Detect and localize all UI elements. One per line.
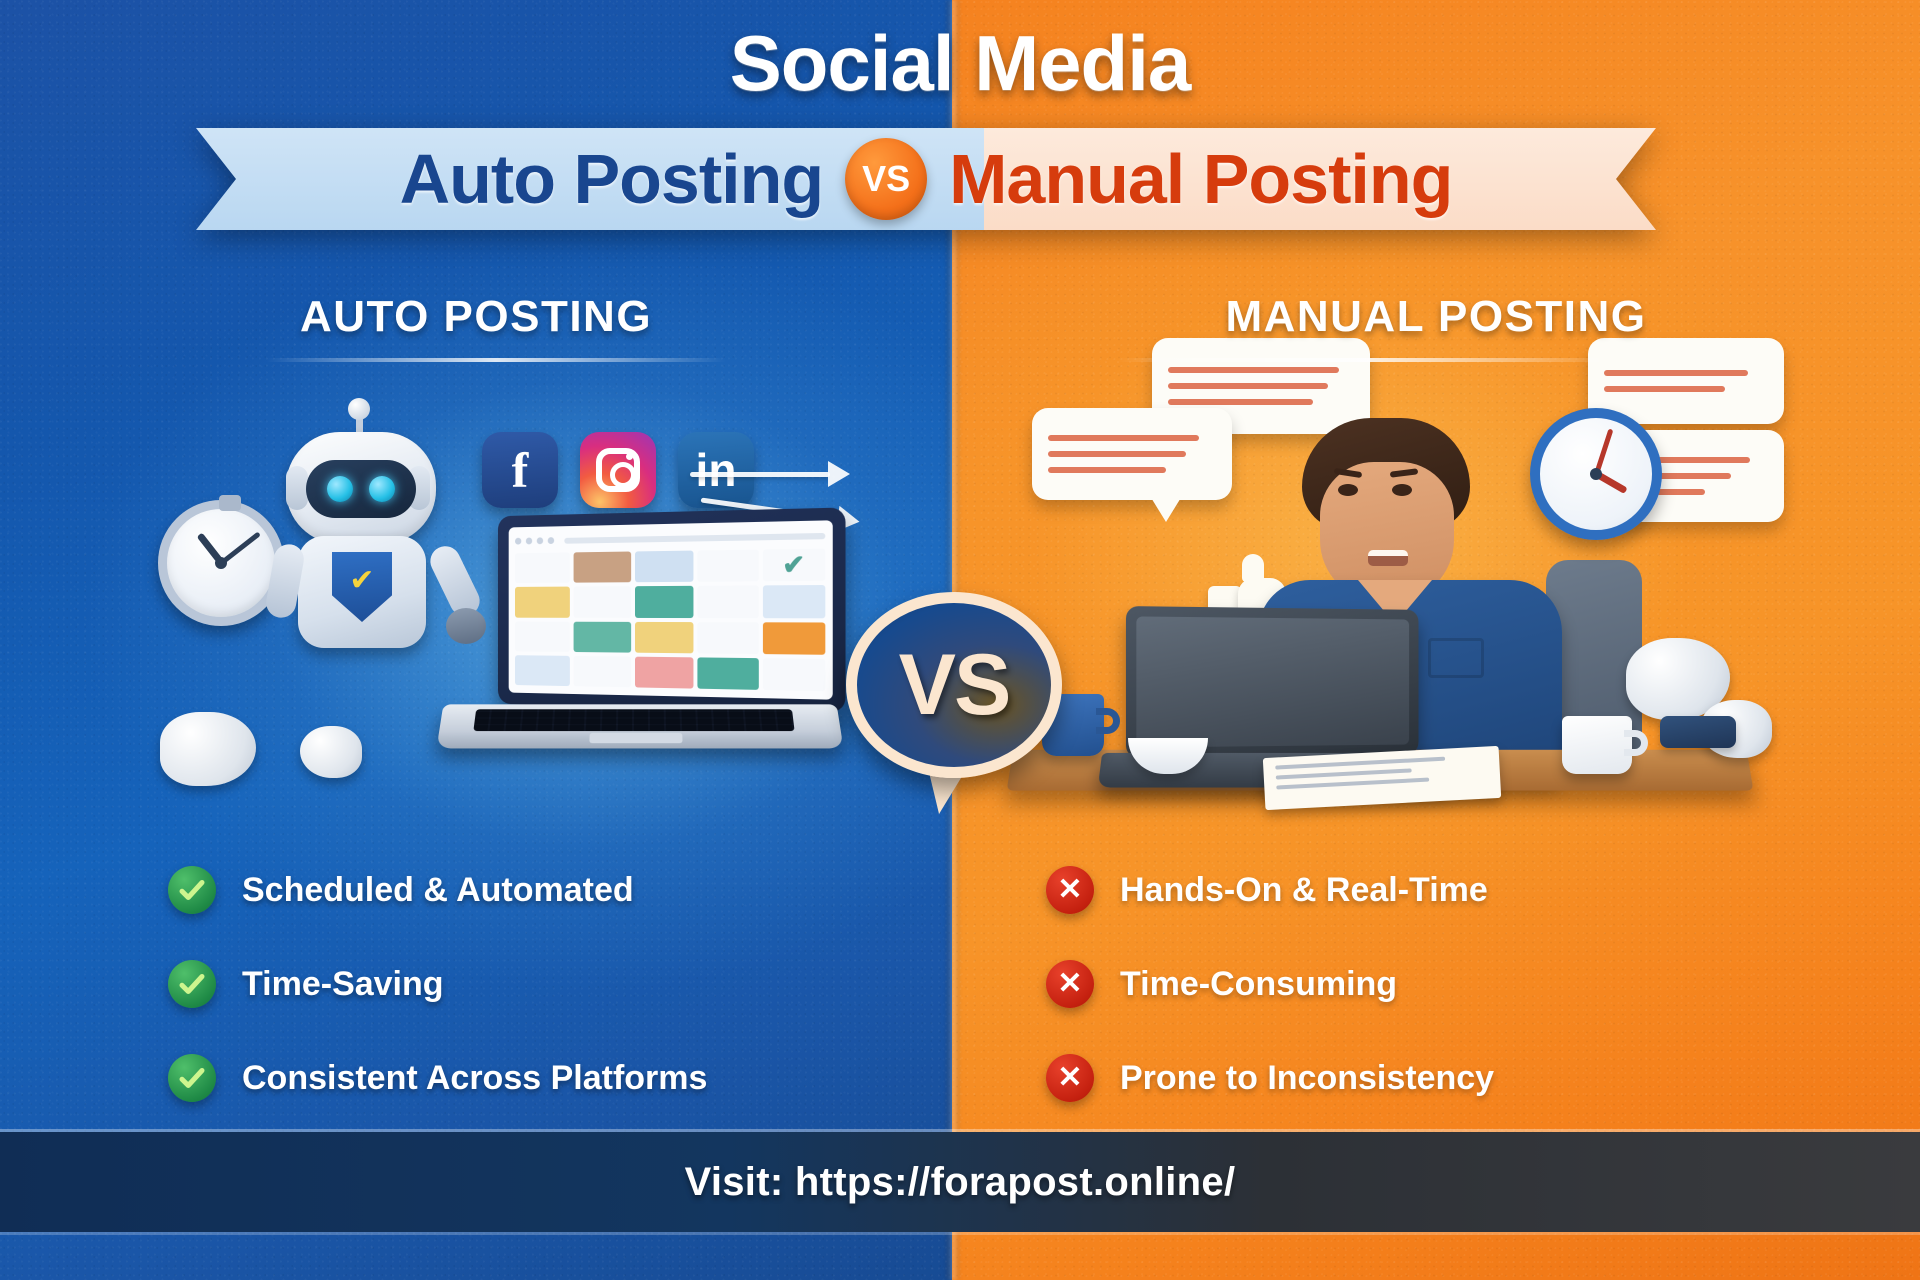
page-title: Social Media [0,18,1920,109]
check-icon [168,1054,216,1102]
list-item: ✕ Time-Consuming [1046,960,1494,1008]
cross-icon: ✕ [1046,866,1094,914]
calendar-cell [574,586,631,617]
robot-body: ✔ [298,536,426,648]
calendar-toolbar [515,529,825,548]
list-item: Time-Saving [168,960,707,1008]
section-heading-rule-left [266,358,726,362]
clock-center-dot [1590,468,1602,480]
chat-line [1048,451,1186,457]
robot-eye-left [327,476,353,502]
chat-line [1168,367,1339,373]
calendar-cell [635,586,694,617]
calendar-cell [635,551,694,583]
list-item-label: Time-Consuming [1120,965,1397,1004]
calendar-grid: ✔ [515,549,825,692]
chat-line [1048,467,1166,473]
facebook-glyph: f [512,441,529,499]
chat-line [1168,383,1328,389]
person-eye-left [1338,484,1358,496]
robot-ear-left [286,466,308,510]
paper-line [1275,757,1445,770]
section-heading-manual: MANUAL POSTING [952,292,1920,342]
robot-eye-right [369,476,395,502]
vs-label: VS [899,636,1010,735]
ribbon-label-manual: Manual Posting [949,139,1452,219]
window-dot [537,537,543,544]
list-item-label: Scheduled & Automated [242,871,634,910]
calendar-cell [698,586,759,618]
laptop-screen-inner [1136,616,1409,747]
arrow-head [828,461,850,487]
calendar-cell [635,656,694,688]
calendar-cell [698,622,759,654]
calendar-cell [762,622,825,655]
calendar-header-bar [564,532,825,543]
person-mouth [1368,550,1408,566]
cross-glyph: ✕ [1057,1063,1082,1093]
cross-glyph: ✕ [1057,969,1082,999]
laptop-screen [1126,606,1419,758]
check-icon [168,960,216,1008]
clock-knob [219,495,241,511]
title-ribbon: Auto Posting VS Manual Posting [196,128,1656,230]
vs-bubble-body: VS [846,592,1062,778]
clock-center-dot [215,557,227,569]
calendar-check-cell: ✔ [762,549,825,582]
cross-icon: ✕ [1046,960,1094,1008]
check-icon [168,866,216,914]
website-url[interactable]: Visit: https://forapost.online/ [685,1160,1236,1205]
check-glyph [177,875,207,905]
crumpled-paper [300,726,362,778]
list-item: Consistent Across Platforms [168,1054,707,1102]
content-calendar: ✔ [509,520,833,699]
calendar-cell [762,658,825,691]
check-glyph [177,969,207,999]
robot-head [286,432,436,544]
clock-face [158,500,284,626]
clock-face [1530,408,1662,540]
list-item: ✕ Hands-On & Real-Time [1046,866,1494,914]
calendar-cell [574,621,631,652]
cross-glyph: ✕ [1057,875,1082,905]
footer-bar: Visit: https://forapost.online/ [0,1132,1920,1232]
chat-line [1048,435,1199,441]
calendar-cell [698,550,759,582]
laptop-screen: ✔ [498,507,846,712]
robot-shield-badge: ✔ [332,552,392,622]
person-eye-right [1392,484,1412,496]
window-dot [515,538,521,545]
chat-line [1604,370,1748,376]
arrow-shaft [690,472,830,477]
ribbon-text-row: Auto Posting VS Manual Posting [196,128,1656,230]
section-heading-rule-right [1118,358,1618,362]
calendar-cell [515,552,570,583]
calendar-cell [574,656,631,688]
calendar-cell [698,657,759,690]
calendar-cell [515,621,570,652]
chat-bubble [1032,408,1232,500]
facebook-icon: f [482,432,558,508]
manual-posting-drawbacks-list: ✕ Hands-On & Real-Time ✕ Time-Consuming … [1046,866,1494,1102]
auto-posting-laptop: ✔ [440,512,840,752]
chat-bubble-tail [1150,496,1182,522]
laptop-keyboard [473,709,794,731]
auto-posting-benefits-list: Scheduled & Automated Time-Saving Consis… [168,866,707,1102]
paper-line [1276,768,1412,779]
list-item-label: Time-Saving [242,965,444,1004]
paper-line [1276,778,1429,790]
check-glyph [177,1063,207,1093]
chat-line [1604,386,1725,392]
list-item-label: Hands-On & Real-Time [1120,871,1488,910]
alarm-clock-icon [158,500,284,626]
laptop-base [436,704,843,748]
center-vs-badge: VS [846,592,1062,778]
flow-arrow-top [690,468,870,482]
coffee-mug-white [1562,716,1632,774]
calendar-cell [515,655,570,686]
calendar-cell [635,621,694,653]
vs-chip-badge: VS [845,138,927,220]
robot-antenna-ball [348,398,370,420]
laptop-trackpad [589,733,682,743]
list-item-label: Prone to Inconsistency [1120,1059,1494,1098]
list-item-label: Consistent Across Platforms [242,1059,707,1098]
robot-visor [306,460,416,518]
infographic-canvas: Social Media Auto Posting VS Manual Post… [0,0,1920,1280]
calendar-cell [574,552,631,583]
instagram-camera-glyph [596,448,640,492]
list-item: ✕ Prone to Inconsistency [1046,1054,1494,1102]
shield-check-glyph: ✔ [349,566,374,596]
section-heading-auto: AUTO POSTING [0,292,952,342]
instagram-icon [580,432,656,508]
chat-line [1168,399,1313,405]
cross-icon: ✕ [1046,1054,1094,1102]
window-dot [548,537,554,544]
calendar-cell [762,585,825,618]
ribbon-label-auto: Auto Posting [400,139,823,219]
robot-illustration: ✔ [268,432,458,662]
stapler [1660,716,1736,748]
wall-clock-icon [1530,408,1662,540]
list-item: Scheduled & Automated [168,866,707,914]
calendar-cell [515,587,570,617]
window-dot [526,538,532,545]
